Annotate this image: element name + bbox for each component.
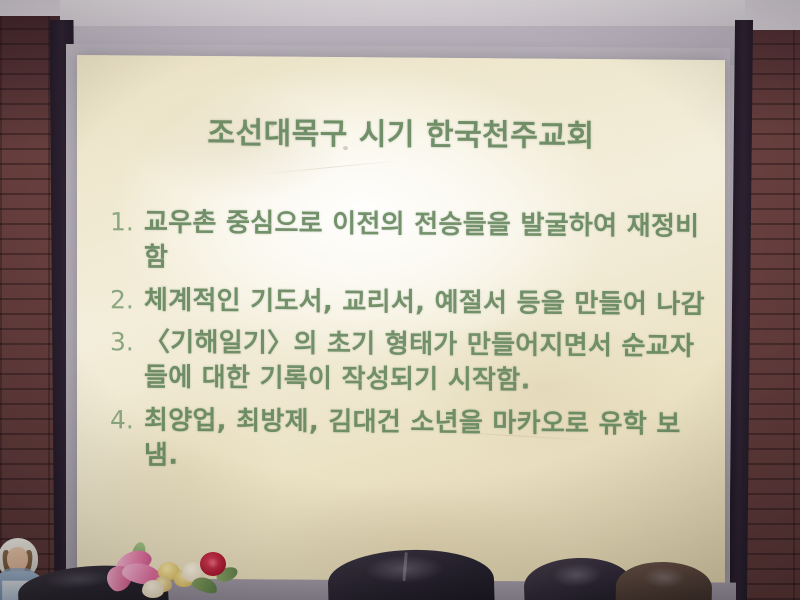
list-item: 4. 최양업, 최방제, 김대건 소년을 마카오로 유학 보냄. bbox=[107, 403, 709, 478]
projection-screen: 조선대목구 시기 한국천주교회 1. 교우촌 중심으로 이전의 전승들을 발굴하… bbox=[77, 55, 725, 583]
list-item: 3. 〈기해일기〉의 초기 형태가 만들어지면서 순교자들에 대한 기록이 작성… bbox=[107, 325, 709, 400]
brick-top-cover-left bbox=[0, 0, 60, 16]
lower-wall bbox=[66, 578, 736, 600]
list-item-text: 체계적인 기도서, 교리서, 예절서 등을 만들어 나감 bbox=[144, 283, 709, 323]
list-item: 1. 교우촌 중심으로 이전의 전승들을 발굴하여 재정비함 bbox=[107, 205, 709, 280]
ceiling bbox=[0, 0, 800, 26]
list-item-number: 2. bbox=[107, 283, 144, 317]
list-item-text: 최양업, 최방제, 김대건 소년을 마카오로 유학 보냄. bbox=[144, 403, 709, 478]
slide-bullet-list: 1. 교우촌 중심으로 이전의 전승들을 발굴하여 재정비함 2. 체계적인 기… bbox=[107, 205, 709, 485]
brick-top-cover-right bbox=[745, 0, 800, 30]
list-item-number: 1. bbox=[107, 205, 144, 239]
list-item-number: 3. bbox=[107, 325, 144, 359]
brick-wall-right bbox=[745, 0, 800, 600]
presentation-room-photo: 조선대목구 시기 한국천주교회 1. 교우촌 중심으로 이전의 전승들을 발굴하… bbox=[0, 0, 800, 600]
list-item: 2. 체계적인 기도서, 교리서, 예절서 등을 만들어 나감 bbox=[107, 283, 709, 323]
list-item-text: 교우촌 중심으로 이전의 전승들을 발굴하여 재정비함 bbox=[144, 206, 709, 281]
slide-content: 조선대목구 시기 한국천주교회 1. 교우촌 중심으로 이전의 전승들을 발굴하… bbox=[77, 55, 725, 583]
list-item-text: 〈기해일기〉의 초기 형태가 만들어지면서 순교자들에 대한 기록이 작성되기 … bbox=[144, 326, 709, 401]
slide-title: 조선대목구 시기 한국천주교회 bbox=[77, 107, 725, 156]
list-item-number: 4. bbox=[107, 403, 144, 437]
